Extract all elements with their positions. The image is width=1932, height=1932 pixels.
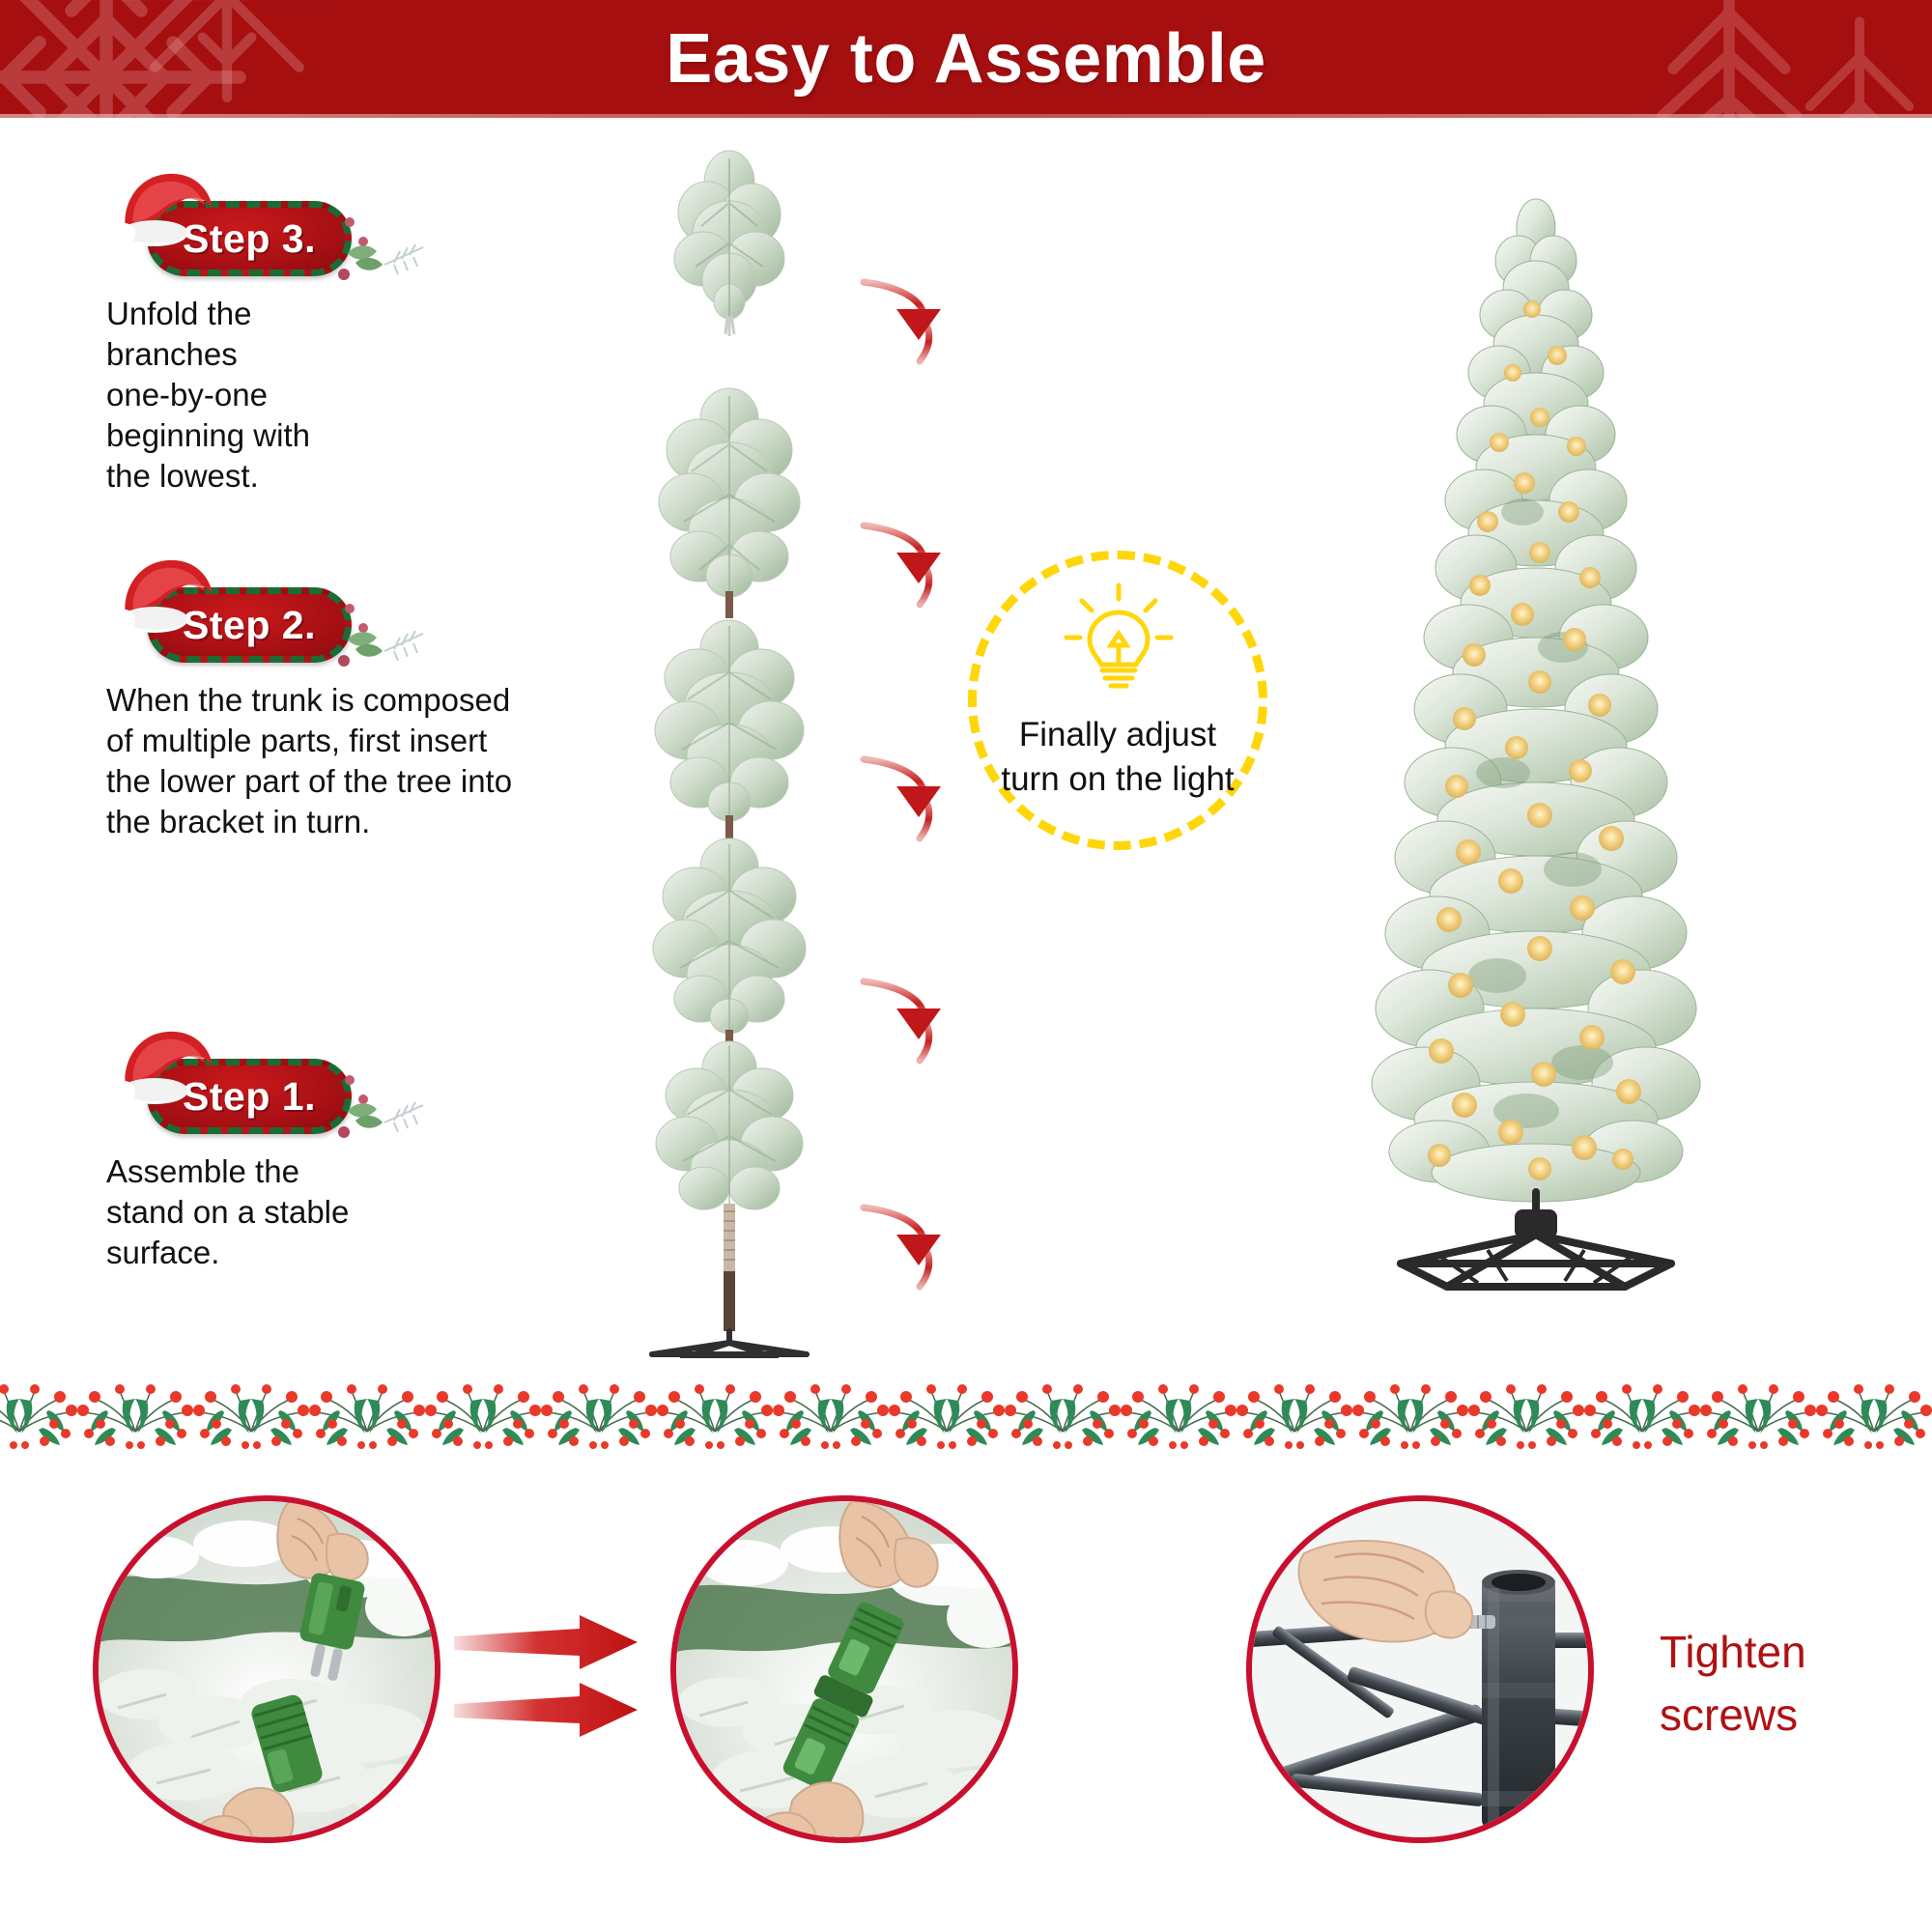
step-badge-3: Step 3. bbox=[102, 189, 354, 278]
infographic-page: Easy to Assemble Step 3. bbox=[0, 0, 1932, 1932]
holly-border-pattern bbox=[0, 1381, 1932, 1451]
tree-lower-middle-section bbox=[628, 837, 831, 1059]
step-body-text-1: Assemble the stand on a stable surface. bbox=[106, 1151, 354, 1273]
curved-down-arrow-icon bbox=[850, 1194, 966, 1300]
photo-inner bbox=[676, 1501, 1012, 1837]
santa-hat-icon bbox=[116, 166, 218, 255]
step-body-text-3: Unfold the branches one-by-one beginning… bbox=[106, 294, 354, 497]
step-body-text-2: When the trunk is composed of multiple p… bbox=[106, 680, 589, 842]
photo-inner bbox=[1252, 1501, 1588, 1837]
holly-berry-divider bbox=[0, 1381, 1932, 1451]
step-badge-1: Step 1. bbox=[102, 1047, 354, 1136]
tighten-screws-illustration bbox=[1252, 1501, 1588, 1837]
curved-down-arrow-icon bbox=[850, 512, 966, 618]
tree-top-section bbox=[638, 145, 821, 338]
curved-down-arrow-icon bbox=[850, 968, 966, 1074]
holly-sprig-icon bbox=[330, 601, 431, 674]
page-title: Easy to Assemble bbox=[0, 0, 1932, 118]
lightbulb-icon bbox=[1061, 580, 1177, 696]
right-arrow-icon-group bbox=[454, 1604, 676, 1768]
step-block-2: Step 2. bbox=[102, 576, 354, 665]
tree-upper-middle-section bbox=[628, 386, 831, 618]
santa-hat-icon bbox=[116, 1024, 218, 1113]
tighten-screws-label: Tighten screws bbox=[1660, 1621, 1911, 1747]
tree-middle-section bbox=[628, 618, 831, 840]
step-badge-2: Step 2. bbox=[102, 576, 354, 665]
step-block-3: Step 3. bbox=[102, 189, 354, 278]
plug-connected-photo bbox=[670, 1495, 1018, 1843]
holly-sprig-icon bbox=[330, 214, 431, 288]
curved-down-arrow-icon bbox=[850, 269, 966, 375]
plug-separated-illustration bbox=[99, 1501, 435, 1837]
header-banner: Easy to Assemble bbox=[0, 0, 1932, 118]
assembled-flocked-christmas-tree bbox=[1333, 193, 1739, 1323]
header-underline bbox=[0, 114, 1932, 118]
step-block-1: Step 1. bbox=[102, 1047, 354, 1136]
tree-bottom-section-with-pole bbox=[623, 1039, 836, 1358]
plug-connected-illustration bbox=[676, 1501, 1012, 1837]
photo-inner bbox=[99, 1501, 435, 1837]
right-arrow-icon bbox=[454, 1683, 638, 1737]
santa-hat-icon bbox=[116, 553, 218, 641]
tighten-screws-photo bbox=[1246, 1495, 1594, 1843]
tip-text: Finally adjust turn on the light bbox=[949, 713, 1287, 801]
right-arrow-icon bbox=[454, 1615, 638, 1669]
plug-separated-photo bbox=[93, 1495, 440, 1843]
holly-sprig-icon bbox=[330, 1072, 431, 1146]
